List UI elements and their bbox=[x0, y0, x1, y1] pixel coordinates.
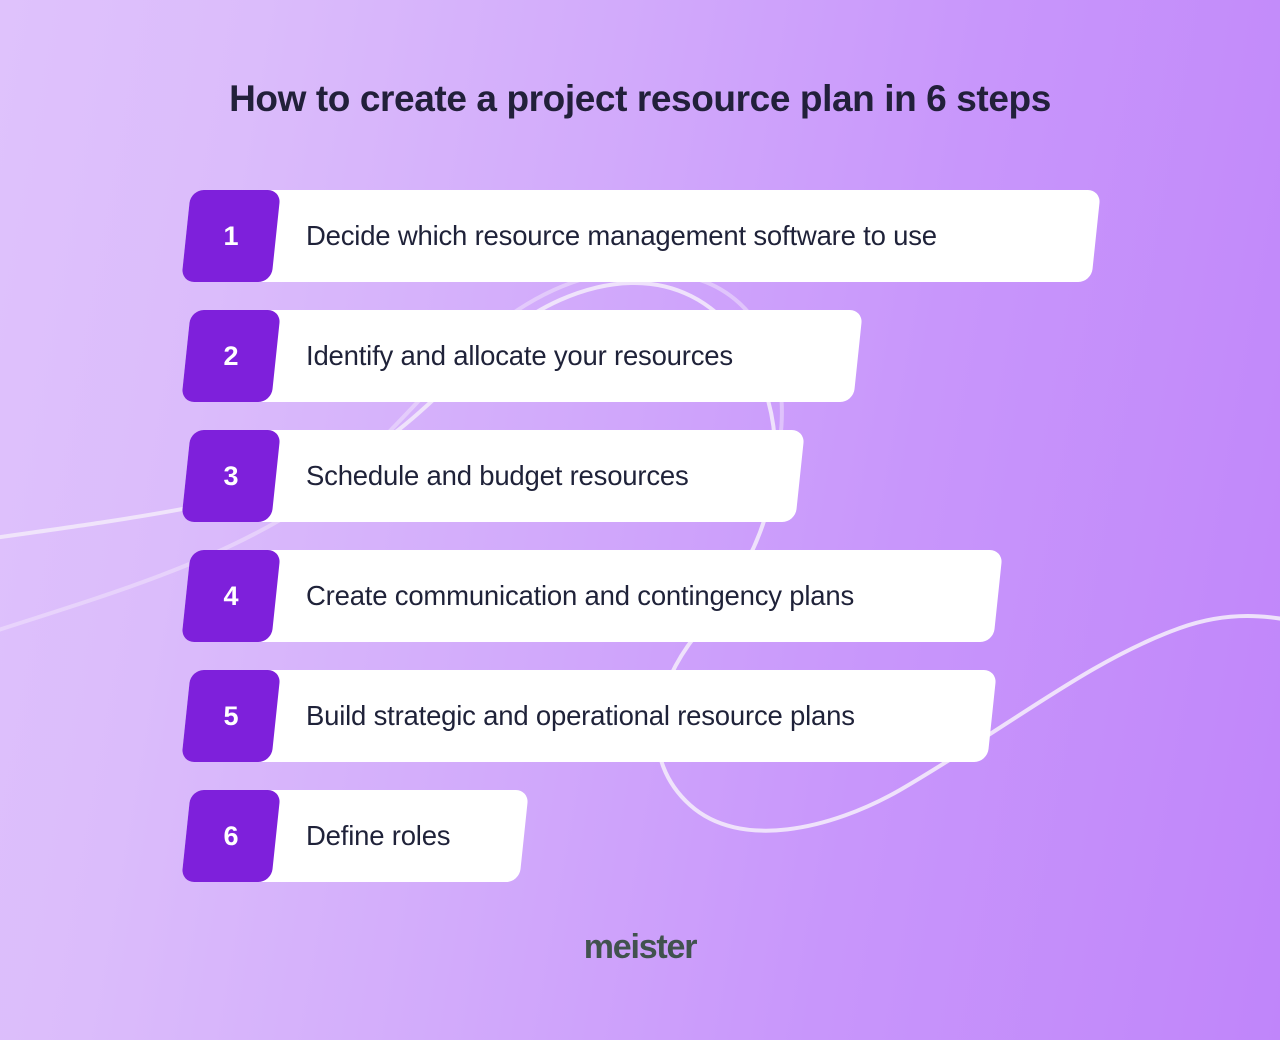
step-number-2: 2 bbox=[186, 310, 276, 402]
step-label-5: Build strategic and operational resource… bbox=[306, 670, 855, 762]
step-number-5: 5 bbox=[186, 670, 276, 762]
infographic-poster: How to create a project resource plan in… bbox=[0, 0, 1280, 1040]
step-number-6: 6 bbox=[186, 790, 276, 882]
step-row-3: 3 Schedule and budget resources bbox=[186, 430, 1196, 522]
step-row-4: 4 Create communication and contingency p… bbox=[186, 550, 1196, 642]
step-row-6: 6 Define roles bbox=[186, 790, 1196, 882]
step-label-6: Define roles bbox=[306, 790, 450, 882]
step-row-1: 1 Decide which resource management softw… bbox=[186, 190, 1196, 282]
step-label-3: Schedule and budget resources bbox=[306, 430, 689, 522]
step-label-1: Decide which resource management softwar… bbox=[306, 190, 937, 282]
brand-logo-meister: meister bbox=[0, 928, 1280, 967]
page-title: How to create a project resource plan in… bbox=[0, 78, 1280, 120]
step-number-3: 3 bbox=[186, 430, 276, 522]
step-number-1: 1 bbox=[186, 190, 276, 282]
steps-list: 1 Decide which resource management softw… bbox=[186, 190, 1196, 910]
step-row-5: 5 Build strategic and operational resour… bbox=[186, 670, 1196, 762]
step-row-2: 2 Identify and allocate your resources bbox=[186, 310, 1196, 402]
step-label-2: Identify and allocate your resources bbox=[306, 310, 733, 402]
step-label-4: Create communication and contingency pla… bbox=[306, 550, 854, 642]
step-number-4: 4 bbox=[186, 550, 276, 642]
